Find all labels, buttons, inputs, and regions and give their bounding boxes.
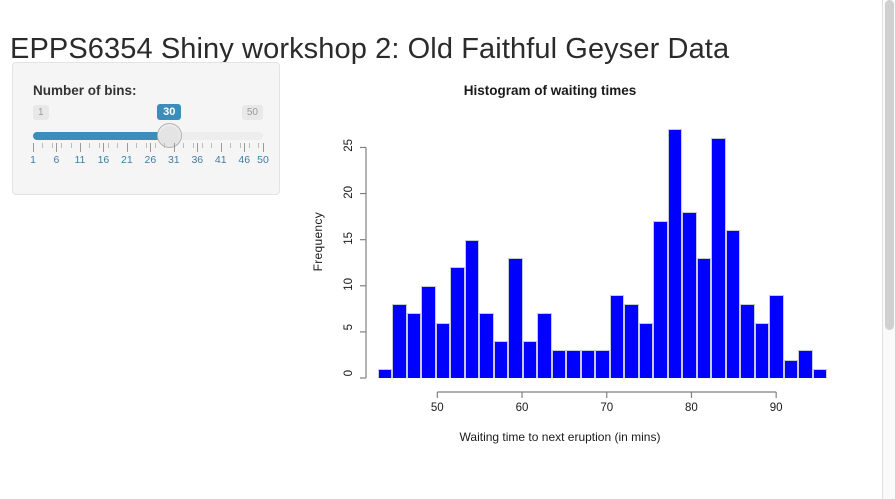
slider-tick-major xyxy=(33,143,34,152)
histogram-bar xyxy=(769,295,783,378)
histogram-bar xyxy=(450,267,464,378)
histogram-bar xyxy=(639,323,653,378)
histogram-bar xyxy=(726,230,740,378)
slider-tick-label: 31 xyxy=(168,154,180,166)
slider-tick-major xyxy=(197,143,198,152)
histogram-bar xyxy=(595,350,609,378)
histogram-bar xyxy=(813,369,827,378)
slider-tick-minor xyxy=(211,143,212,148)
slider-tick-major xyxy=(263,143,264,152)
y-tick-label: 20 xyxy=(344,186,356,199)
x-tick-label: 60 xyxy=(516,402,529,414)
slider-tick-label: 46 xyxy=(238,154,250,166)
slider-tick-label: 21 xyxy=(121,154,133,166)
slider-value-bubble: 30 xyxy=(157,104,181,120)
histogram-bar xyxy=(682,212,696,378)
histogram-bar xyxy=(436,323,450,378)
histogram-bar xyxy=(392,304,406,378)
slider-min-label: 1 xyxy=(33,105,49,120)
slider-tick-major xyxy=(80,143,81,152)
histogram-bar xyxy=(479,313,493,378)
histogram-bar xyxy=(624,304,638,378)
slider-tick-major xyxy=(150,143,151,152)
histogram-bar xyxy=(798,350,812,378)
slider-tick-major xyxy=(103,143,104,152)
histogram-bar xyxy=(494,341,508,378)
slider-tick-minor xyxy=(202,143,203,148)
y-tick-label: 5 xyxy=(344,324,356,330)
bins-slider[interactable]: 1 50 30 16111621263136414650 xyxy=(33,105,263,177)
histogram-bar xyxy=(465,240,479,378)
histogram-bar xyxy=(711,138,725,378)
slider-tick-major xyxy=(244,143,245,152)
x-tick-label: 80 xyxy=(685,402,698,414)
histogram-bar xyxy=(581,350,595,378)
histogram-plot: Histogram of waiting times Frequency Wai… xyxy=(300,70,860,470)
y-tick-label: 25 xyxy=(344,139,356,152)
slider-tick-labels: 16111621263136414650 xyxy=(33,154,263,168)
slider-tick-minor xyxy=(183,143,184,148)
histogram-bar xyxy=(508,258,522,378)
histogram-bar xyxy=(668,129,682,378)
y-tick-label: 10 xyxy=(344,278,356,291)
x-tick-label: 70 xyxy=(600,402,613,414)
vertical-scrollbar[interactable] xyxy=(882,0,895,499)
slider-tick-minor xyxy=(155,143,156,148)
x-tick-label: 50 xyxy=(431,402,444,414)
slider-tick-major xyxy=(174,143,175,152)
x-tick-label: 90 xyxy=(770,402,783,414)
y-tick-label: 15 xyxy=(344,232,356,245)
slider-tick-minor xyxy=(193,143,194,148)
scrollbar-thumb[interactable] xyxy=(885,0,894,330)
histogram-bar xyxy=(653,221,667,378)
histogram-bar xyxy=(566,350,580,378)
slider-tick-label: 6 xyxy=(54,154,60,166)
app-root: EPPS6354 Shiny workshop 2: Old Faithful … xyxy=(0,0,895,499)
slider-label: Number of bins: xyxy=(33,83,137,98)
slider-tick-minor xyxy=(99,143,100,148)
slider-tick-label: 26 xyxy=(145,154,157,166)
slider-tick-minor xyxy=(146,143,147,148)
histogram-bar xyxy=(378,369,392,378)
slider-tick-label: 1 xyxy=(30,154,36,166)
slider-tick-major xyxy=(221,143,222,152)
histogram-bar xyxy=(407,313,421,378)
slider-tick-minor xyxy=(136,143,137,148)
histogram-bar xyxy=(697,258,711,378)
slider-tick-minor xyxy=(89,143,90,148)
histogram-bar xyxy=(552,350,566,378)
histogram-bar xyxy=(784,360,798,378)
slider-tick-minor xyxy=(61,143,62,148)
slider-track[interactable] xyxy=(33,132,263,140)
slider-tick-label: 16 xyxy=(98,154,110,166)
slider-tick-minor xyxy=(230,143,231,148)
slider-tick-minor xyxy=(52,143,53,148)
histogram-bar xyxy=(523,341,537,378)
slider-tick-minor xyxy=(108,143,109,148)
slider-tick-minor xyxy=(249,143,250,148)
y-tick-label: 0 xyxy=(344,370,356,376)
slider-tick-major xyxy=(127,143,128,152)
slider-fill xyxy=(33,132,169,140)
slider-tick-minor xyxy=(258,143,259,148)
slider-tick-label: 41 xyxy=(215,154,227,166)
slider-tick-label: 50 xyxy=(257,154,269,166)
slider-tick-minor xyxy=(164,143,165,148)
histogram-bar xyxy=(421,286,435,378)
slider-tick-minor xyxy=(240,143,241,148)
histogram-bar xyxy=(755,323,769,378)
histogram-bar xyxy=(610,295,624,378)
slider-tick-label: 36 xyxy=(191,154,203,166)
histogram-bar xyxy=(740,304,754,378)
histogram-bar xyxy=(537,313,551,378)
slider-tick-major xyxy=(56,143,57,152)
slider-tick-minor xyxy=(71,143,72,148)
slider-ticks xyxy=(33,143,263,152)
slider-max-label: 50 xyxy=(242,105,263,120)
slider-tick-minor xyxy=(117,143,118,148)
slider-tick-label: 11 xyxy=(74,154,85,166)
sidebar-panel: Number of bins: 1 50 30 1611162126313641… xyxy=(12,62,280,195)
slider-tick-minor xyxy=(42,143,43,148)
